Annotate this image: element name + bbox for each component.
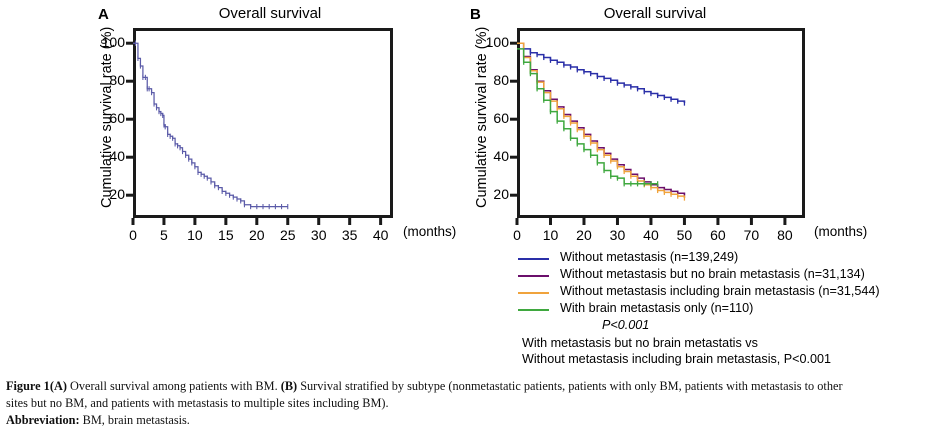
caption-label-a: (A) xyxy=(50,379,67,393)
caption-text-a: Overall survival among patients with BM. xyxy=(67,379,281,393)
panel-a-title: Overall survival xyxy=(145,5,395,22)
panel-a-tick-marks xyxy=(133,28,413,243)
panel-b-x-unit-label: (months) xyxy=(814,224,867,239)
y-tick-label: 60 xyxy=(471,110,509,126)
figure-container: A Overall survival Cumulative survival r… xyxy=(0,0,952,433)
legend-item-including-brain-metastasis: Without metastasis including brain metas… xyxy=(518,284,918,301)
panel-a-x-unit-label: (months) xyxy=(403,224,456,239)
legend-label: With brain metastasis only (n=110) xyxy=(560,301,753,315)
panel-b: B Overall survival Cumulative survival r… xyxy=(462,0,862,250)
caption-abbreviation-text: BM, brain metastasis. xyxy=(80,413,190,427)
legend-comparison-line-2: Without metastasis including brain metas… xyxy=(518,352,918,368)
caption-line-1: Figure 1(A) Overall survival among patie… xyxy=(6,378,946,395)
panel-b-title: Overall survival xyxy=(530,5,780,22)
legend-item-without-metastasis: Without metastasis (n=139,249) xyxy=(518,250,918,267)
caption-text-b: Survival stratified by subtype (nonmetas… xyxy=(297,379,842,393)
x-tick-label: 40 xyxy=(361,227,401,243)
y-tick-label: 100 xyxy=(471,34,509,50)
y-tick-label: 80 xyxy=(471,72,509,88)
y-tick-label: 40 xyxy=(87,148,125,164)
legend-swatch-line xyxy=(518,309,549,311)
caption-line-3: Abbreviation: BM, brain metastasis. xyxy=(6,412,946,429)
y-tick-label: 20 xyxy=(87,186,125,202)
panel-a: A Overall survival Cumulative survival r… xyxy=(85,0,455,250)
legend-swatch-line xyxy=(518,258,549,260)
y-tick-label: 20 xyxy=(471,186,509,202)
caption-line-2: sites but no BM, and patients with metas… xyxy=(6,395,946,412)
legend: Without metastasis (n=139,249) Without m… xyxy=(518,250,918,368)
legend-swatch-line xyxy=(518,292,549,294)
caption-abbreviation-label: Abbreviation: xyxy=(6,413,80,427)
caption-figure-number: Figure 1 xyxy=(6,379,50,393)
legend-item-no-brain-metastasis: Without metastasis but no brain metastas… xyxy=(518,267,918,284)
panel-b-letter: B xyxy=(470,6,481,23)
legend-swatch-line xyxy=(518,275,549,277)
legend-item-brain-metastasis-only: With brain metastasis only (n=110) xyxy=(518,301,918,318)
legend-comparison-line-1: With metastasis but no brain metastatis … xyxy=(518,336,918,352)
y-tick-label: 100 xyxy=(87,34,125,50)
legend-label: Without metastasis but no brain metastas… xyxy=(560,267,865,281)
caption-label-b: (B) xyxy=(281,379,297,393)
panel-b-tick-marks xyxy=(517,28,817,243)
figure-caption: Figure 1(A) Overall survival among patie… xyxy=(6,378,946,429)
legend-label: Without metastasis (n=139,249) xyxy=(560,250,738,264)
y-tick-label: 40 xyxy=(471,148,509,164)
panel-a-letter: A xyxy=(98,6,109,23)
y-tick-label: 60 xyxy=(87,110,125,126)
x-tick-label: 80 xyxy=(765,227,805,243)
legend-label: Without metastasis including brain metas… xyxy=(560,284,880,298)
legend-pvalue-main: P<0.001 xyxy=(518,318,918,336)
y-tick-label: 80 xyxy=(87,72,125,88)
pvalue-text: P<0.001 xyxy=(602,318,649,332)
